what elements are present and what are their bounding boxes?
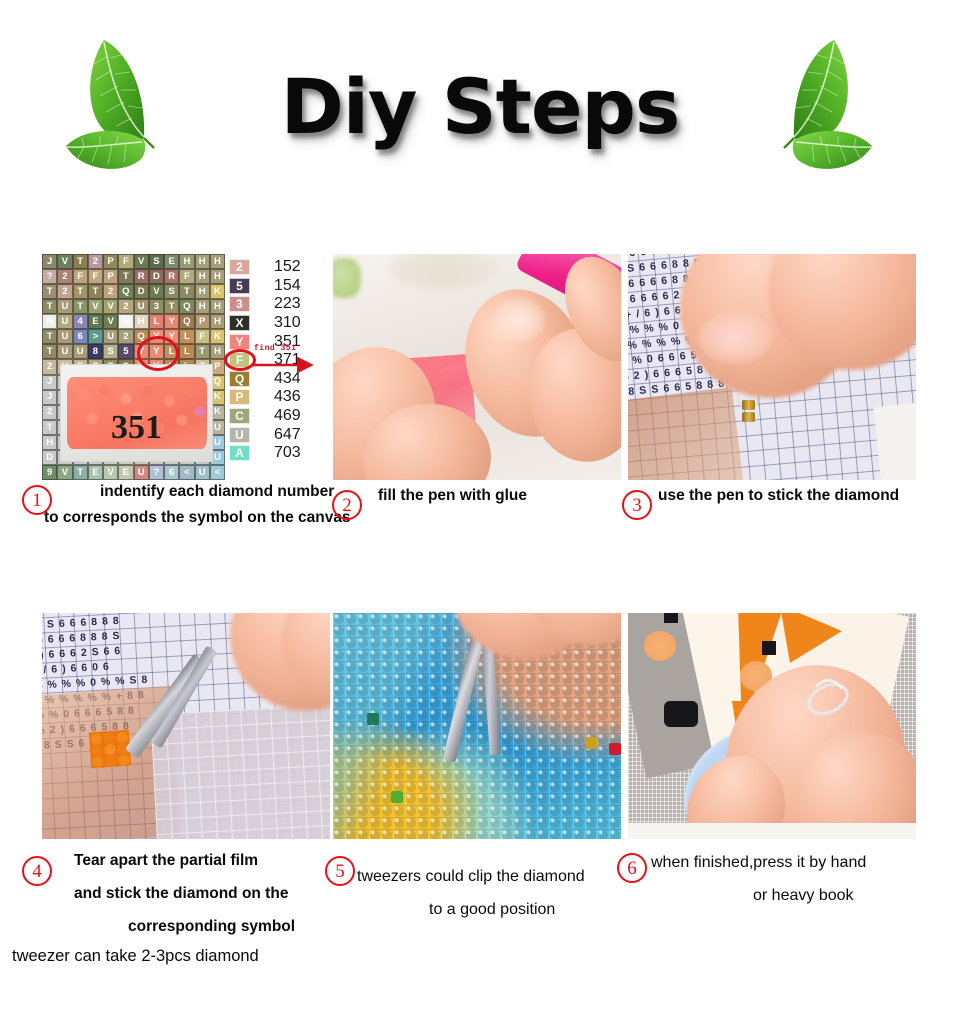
grid-cell: V: [149, 284, 164, 299]
grid-cell: 4: [73, 314, 88, 329]
grid-cell: 3: [149, 299, 164, 314]
step-3-caption: 3 use the pen to stick the diamond: [622, 488, 952, 528]
grid-cell: T: [73, 284, 88, 299]
grid-cell: E: [164, 254, 179, 269]
grid-cell: >: [88, 329, 103, 344]
step-caption-line: tweezers could clip the diamond: [357, 860, 585, 893]
legend-symbol-chip: C: [229, 408, 250, 424]
grid-cell: T: [164, 299, 179, 314]
grid-cell: Q: [179, 299, 194, 314]
step-5-caption: 5 tweezers could clip the diamond to a g…: [325, 852, 615, 932]
bag-number-label: 351: [61, 409, 212, 447]
legend-symbol-chip: A: [229, 445, 250, 461]
step-caption-line: corresponding symbol: [128, 910, 295, 943]
legend-row: 3223: [225, 295, 330, 314]
grid-cell: Y: [149, 329, 164, 344]
grid-cell: T: [73, 254, 88, 269]
legend-number: 154: [274, 277, 301, 295]
grid-cell: F: [73, 269, 88, 284]
steps-row-2: S666666888 8S)S666888 8S)666888S 8S)6662…: [0, 613, 960, 839]
grid-cell: F: [195, 329, 210, 344]
legend-symbol-chip: 2: [229, 259, 250, 275]
find-351-annotation: find 351: [254, 344, 296, 353]
grid-cell: N: [118, 314, 133, 329]
legend-number: 310: [274, 314, 301, 332]
grid-cell: H: [210, 254, 225, 269]
tweezers-clipping-diamond-photo: [333, 613, 621, 839]
grid-cell: T: [42, 299, 57, 314]
grid-cell: S: [149, 254, 164, 269]
step-6-image: [628, 613, 916, 839]
grid-cell: 2: [103, 284, 118, 299]
grid-cell: D: [134, 284, 149, 299]
grid-cell: R: [164, 269, 179, 284]
grid-cell: U: [57, 344, 72, 359]
legend-symbol-chip: 5: [229, 278, 250, 294]
ring-icon: [800, 675, 856, 719]
step-caption-line: to corresponds the symbol on the canvas: [44, 501, 351, 534]
grid-cell: U: [57, 314, 72, 329]
grid-cell: 5: [118, 344, 133, 359]
step-4-extra-note: tweezer can take 2-3pcs diamond: [12, 940, 259, 973]
grid-cell: F: [118, 254, 133, 269]
grid-cell: T: [118, 269, 133, 284]
step-2-image: [333, 254, 621, 480]
step-6-caption: 6 when finished,press it by hand or heav…: [617, 852, 947, 932]
grid-cell: T: [42, 329, 57, 344]
grid-cell: V: [103, 314, 118, 329]
grid-cell: 8: [88, 344, 103, 359]
step-caption-line: use the pen to stick the diamond: [658, 479, 899, 512]
grid-cell: V: [57, 465, 72, 480]
tearing-film-with-orange-diamonds-photo: S666666888 8S)S666888 8S)666888S 8S)6662…: [42, 613, 330, 839]
grid-cell: Y: [149, 344, 164, 359]
step-1-image: JVT2PFVSEHHH?2FFPTRDRFHHT2TT2QDVSTHKTUTV…: [42, 254, 330, 480]
grid-cell: R: [134, 269, 149, 284]
grid-cell: 6: [73, 329, 88, 344]
grid-cell: T: [88, 284, 103, 299]
step-caption-line: or heavy book: [753, 879, 854, 912]
step-number-badge: 6: [617, 853, 647, 883]
steps-row-1: JVT2PFVSEHHH?2FFPTRDRFHHT2TT2QDVSTHKTUTV…: [0, 254, 960, 480]
grid-cell: H: [195, 284, 210, 299]
grid-cell: H: [134, 314, 149, 329]
grid-cell: H: [42, 435, 57, 450]
step-5-image: [333, 613, 621, 839]
legend-number: 436: [274, 388, 301, 406]
legend-symbol-chip: X: [229, 315, 250, 331]
grid-cell: L: [179, 344, 194, 359]
grid-cell: T: [42, 344, 57, 359]
grid-cell: U: [57, 299, 72, 314]
grid-cell: J: [42, 390, 57, 405]
grid-cell: 2: [42, 359, 57, 374]
grid-cell: 2: [118, 329, 133, 344]
legend-number: 647: [274, 426, 301, 444]
grid-cell: 2: [88, 254, 103, 269]
legend-symbol-chip: Y: [229, 334, 250, 350]
grid-cell: 2: [57, 284, 72, 299]
grid-cell: ?: [42, 269, 57, 284]
grid-cell: V: [134, 254, 149, 269]
step-caption-line: fill the pen with glue: [378, 479, 527, 512]
grid-cell: Y: [164, 314, 179, 329]
grid-cell: Y: [134, 344, 149, 359]
pen-sticking-diamond-on-canvas-photo: S6S6666888828 8S)S66688882 8S)6666888S6 …: [628, 254, 916, 480]
grid-cell: S: [164, 284, 179, 299]
grid-cell: P: [195, 314, 210, 329]
grid-cell: P: [103, 269, 118, 284]
step-caption-line: and stick the diamond on the: [74, 877, 288, 910]
grid-cell: K: [210, 284, 225, 299]
grid-cell: K: [210, 329, 225, 344]
legend-number: 223: [274, 295, 301, 313]
grid-cell: 2: [118, 299, 133, 314]
legend-row: C469: [225, 407, 330, 426]
grid-cell: U: [103, 329, 118, 344]
grid-cell: H: [179, 254, 194, 269]
step-4-image: S666666888 8S)S666888 8S)666888S 8S)6662…: [42, 613, 330, 839]
grid-cell: U: [134, 299, 149, 314]
grid-cell: H: [210, 269, 225, 284]
step-2-caption: 2 fill the pen with glue: [332, 488, 622, 528]
diamond-bead-bag: 351: [60, 364, 213, 462]
grid-cell: F: [88, 269, 103, 284]
grid-cell: T: [42, 284, 57, 299]
grid-cell: V: [88, 299, 103, 314]
grid-cell: S: [103, 344, 118, 359]
grid-cell: T: [179, 284, 194, 299]
step-number-badge: 4: [22, 856, 52, 886]
step-3-image: S6S6666888828 8S)S66688882 8S)6666888S6 …: [628, 254, 916, 480]
grid-cell: T: [73, 299, 88, 314]
legend-row: X310: [225, 314, 330, 333]
grid-cell: N: [42, 314, 57, 329]
grid-cell: J: [42, 254, 57, 269]
step-number-badge: 5: [325, 856, 355, 886]
legend-row: A703: [225, 444, 330, 463]
grid-cell: T: [195, 344, 210, 359]
legend-number: 152: [274, 258, 301, 276]
grid-cell: Q: [179, 314, 194, 329]
legend-symbol-chip: U: [229, 427, 250, 443]
legend-row: P436: [225, 388, 330, 407]
grid-cell: L: [179, 329, 194, 344]
grid-cell: E: [88, 314, 103, 329]
step-4-caption: 4 Tear apart the partial film and stick …: [22, 852, 342, 982]
grid-cell: V: [57, 254, 72, 269]
grid-cell: H: [210, 314, 225, 329]
step-number-badge: 2: [332, 490, 362, 520]
grid-cell: L: [149, 314, 164, 329]
grid-cell: H: [195, 254, 210, 269]
step-1-caption: 1 indentify each diamond number to corre…: [22, 482, 332, 542]
legend-symbol-chip: P: [229, 389, 250, 405]
legend-number: 703: [274, 444, 301, 462]
grid-cell: P: [103, 254, 118, 269]
step-caption-line: Tear apart the partial film: [74, 844, 258, 877]
legend-symbol-chip: 3: [229, 296, 250, 312]
hand-pressing-finished-canvas-photo: [628, 613, 916, 839]
grid-cell: T: [42, 420, 57, 435]
leaf-pair-icon: [760, 30, 880, 180]
grid-cell: H: [195, 299, 210, 314]
step-caption-line: when finished,press it by hand: [651, 846, 866, 879]
arrow-icon: [247, 354, 321, 376]
legend-number: 469: [274, 407, 301, 425]
grid-cell: L: [164, 344, 179, 359]
grid-cell: H: [195, 269, 210, 284]
grid-cell: Y: [164, 329, 179, 344]
grid-cell: Q: [118, 284, 133, 299]
grid-cell: F: [179, 269, 194, 284]
step-number-badge: 3: [622, 490, 652, 520]
legend-row: 2152: [225, 258, 330, 277]
grid-cell: 2: [57, 269, 72, 284]
grid-cell: U: [57, 329, 72, 344]
grid-cell: D: [149, 269, 164, 284]
grid-cell: 2: [42, 405, 57, 420]
page-header: Diy Steps: [0, 0, 960, 230]
hand-filling-pen-with-glue-photo: [333, 254, 621, 480]
grid-cell: 9: [42, 465, 57, 480]
grid-cell: T: [73, 465, 88, 480]
grid-cell: D: [42, 450, 57, 465]
grid-cell: J: [42, 375, 57, 390]
step-caption-line: to a good position: [429, 893, 555, 926]
legend-row: U647: [225, 425, 330, 444]
grid-cell: H: [210, 344, 225, 359]
grid-cell: H: [210, 299, 225, 314]
grid-cell: U: [73, 344, 88, 359]
grid-cell: V: [103, 299, 118, 314]
grid-cell: Q: [134, 329, 149, 344]
legend-row: 5154: [225, 277, 330, 296]
